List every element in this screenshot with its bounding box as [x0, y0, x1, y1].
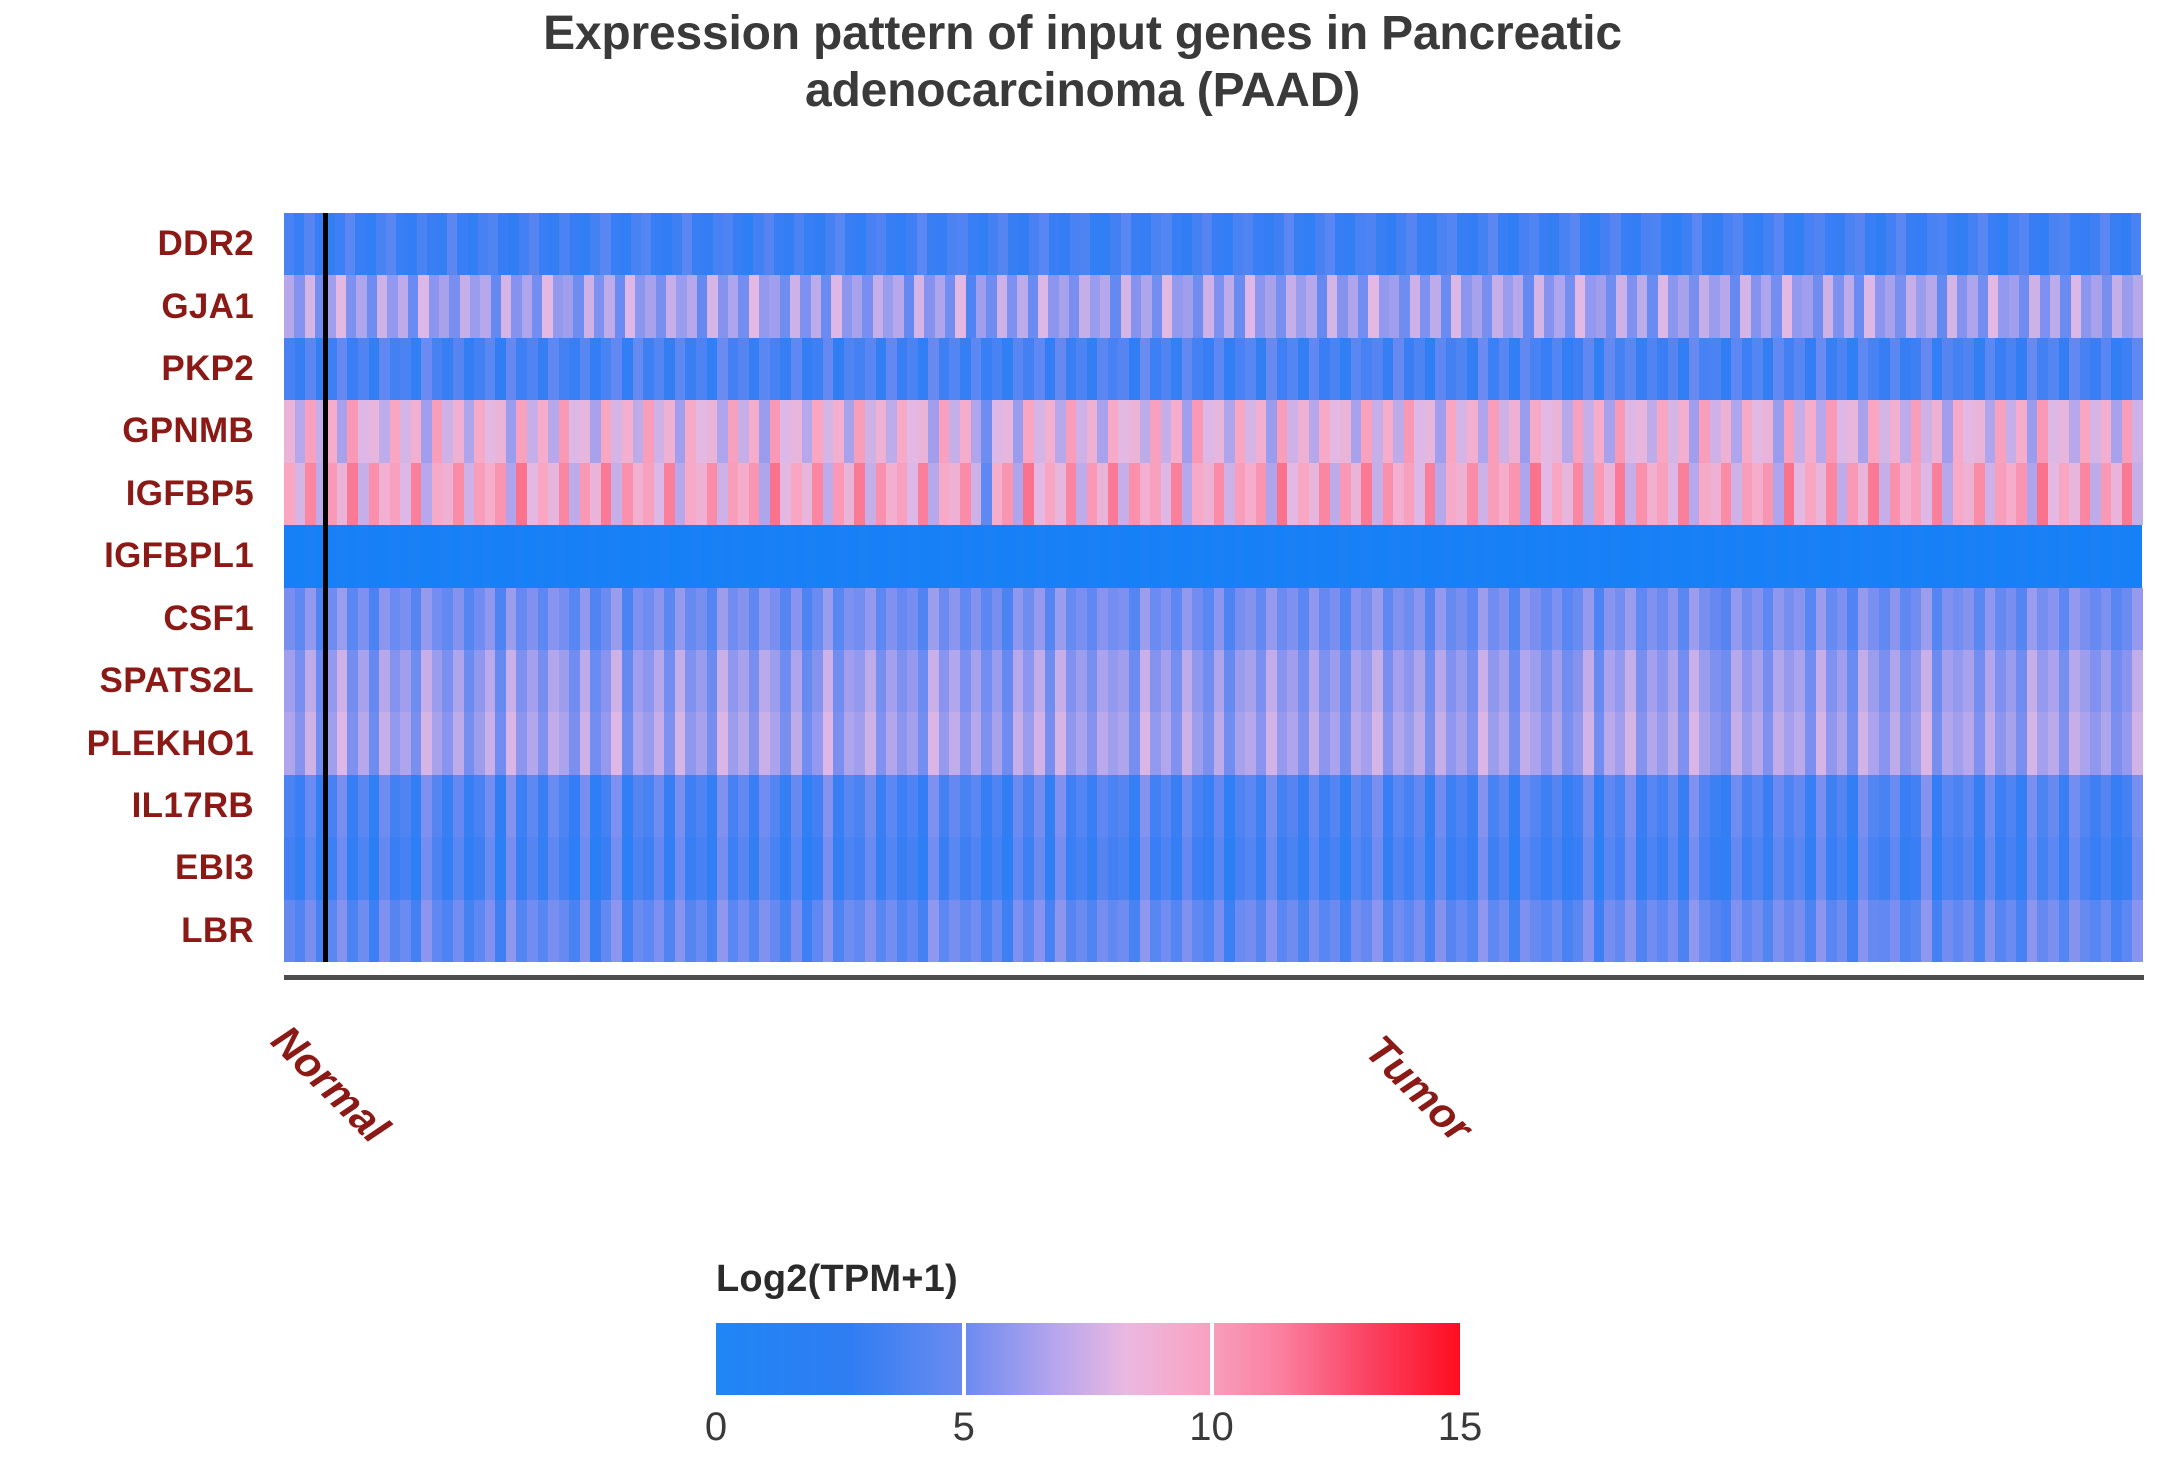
heatmap-cell[interactable] [1013, 650, 1024, 712]
heatmap-cell[interactable] [2111, 525, 2121, 587]
heatmap-cell[interactable] [960, 650, 971, 712]
heatmap-cell[interactable] [284, 588, 295, 650]
heatmap-cell[interactable] [284, 525, 294, 587]
heatmap-cell[interactable] [1805, 775, 1816, 837]
heatmap-cell[interactable] [1858, 837, 1869, 899]
heatmap-cell[interactable] [1499, 650, 1510, 712]
heatmap-cell[interactable] [1150, 400, 1161, 462]
heatmap-cell[interactable] [1549, 213, 1559, 275]
heatmap-cell[interactable] [791, 775, 802, 837]
heatmap-cell[interactable] [1383, 837, 1394, 899]
heatmap-cell[interactable] [812, 900, 823, 962]
heatmap-cell[interactable] [508, 213, 518, 275]
heatmap-cell[interactable] [1516, 525, 1526, 587]
heatmap-cell[interactable] [1404, 775, 1415, 837]
heatmap-cell[interactable] [728, 837, 739, 899]
heatmap-cell[interactable] [733, 525, 743, 587]
heatmap-cell[interactable] [759, 837, 770, 899]
heatmap-cell[interactable] [569, 712, 580, 774]
heatmap-cell[interactable] [759, 900, 770, 962]
heatmap-cell[interactable] [1055, 775, 1066, 837]
heatmap-cell[interactable] [611, 588, 622, 650]
heatmap-cell[interactable] [1689, 837, 1700, 899]
heatmap-cell[interactable] [1891, 525, 1901, 587]
heatmap-cell[interactable] [580, 463, 591, 525]
heatmap-cell[interactable] [1182, 712, 1193, 774]
heatmap-cell[interactable] [939, 338, 950, 400]
heatmap-cell[interactable] [485, 400, 496, 462]
heatmap-cell[interactable] [631, 213, 641, 275]
heatmap-cell[interactable] [1256, 650, 1267, 712]
heatmap-cell[interactable] [960, 775, 971, 837]
heatmap-cell[interactable] [918, 650, 929, 712]
heatmap-cell[interactable] [823, 900, 834, 962]
heatmap-cell[interactable] [1641, 525, 1651, 587]
heatmap-cell[interactable] [1562, 338, 1573, 400]
heatmap-cell[interactable] [1140, 588, 1151, 650]
heatmap-cell[interactable] [1974, 338, 1985, 400]
heatmap-cell[interactable] [390, 775, 401, 837]
heatmap-cell[interactable] [1847, 463, 1858, 525]
heatmap-cell[interactable] [981, 338, 992, 400]
heatmap-cell[interactable] [1307, 525, 1317, 587]
heatmap-cell[interactable] [1340, 400, 1351, 462]
heatmap-cell[interactable] [918, 900, 929, 962]
heatmap-cell[interactable] [1077, 525, 1087, 587]
heatmap-cell[interactable] [1277, 588, 1288, 650]
heatmap-cell[interactable] [337, 588, 348, 650]
heatmap-cell[interactable] [1192, 837, 1203, 899]
heatmap-cell[interactable] [876, 400, 887, 462]
heatmap-cell[interactable] [1520, 650, 1531, 712]
heatmap-cell[interactable] [347, 775, 358, 837]
heatmap-cell[interactable] [506, 588, 517, 650]
heatmap-cell[interactable] [1678, 275, 1688, 337]
heatmap-cell[interactable] [1604, 463, 1615, 525]
heatmap-cell[interactable] [1161, 338, 1172, 400]
heatmap-cell[interactable] [654, 775, 665, 837]
heatmap-cell[interactable] [2111, 900, 2122, 962]
heatmap-cell[interactable] [580, 775, 591, 837]
heatmap-cell[interactable] [2037, 712, 2048, 774]
heatmap-cell[interactable] [1839, 525, 1849, 587]
heatmap-cell[interactable] [2016, 588, 2027, 650]
heatmap-cell[interactable] [1937, 275, 1947, 337]
heatmap-cell[interactable] [876, 213, 886, 275]
heatmap-cell[interactable] [696, 712, 707, 774]
heatmap-cell[interactable] [1721, 837, 1732, 899]
heatmap-cell[interactable] [516, 650, 527, 712]
heatmap-cell[interactable] [611, 400, 622, 462]
heatmap-cell[interactable] [1906, 213, 1916, 275]
heatmap-cell[interactable] [491, 275, 501, 337]
heatmap-cell[interactable] [897, 712, 908, 774]
heatmap-cell[interactable] [794, 213, 804, 275]
heatmap-cell[interactable] [1927, 213, 1937, 275]
heatmap-cell[interactable] [601, 775, 612, 837]
heatmap-cell[interactable] [580, 712, 591, 774]
heatmap-cell[interactable] [1015, 525, 1025, 587]
heatmap-cell[interactable] [1544, 275, 1554, 337]
heatmap-cell[interactable] [802, 338, 813, 400]
heatmap-cell[interactable] [1792, 275, 1802, 337]
heatmap-cell[interactable] [833, 400, 844, 462]
heatmap-cell[interactable] [1921, 338, 1932, 400]
heatmap-cell[interactable] [1287, 712, 1298, 774]
heatmap-cell[interactable] [453, 837, 464, 899]
heatmap-cell[interactable] [1340, 338, 1351, 400]
heatmap-cell[interactable] [1604, 650, 1615, 712]
heatmap-cell[interactable] [1223, 213, 1233, 275]
heatmap-cell[interactable] [862, 275, 872, 337]
heatmap-cell[interactable] [928, 775, 939, 837]
heatmap-cell[interactable] [622, 400, 633, 462]
heatmap-cell[interactable] [2069, 712, 2080, 774]
heatmap-cell[interactable] [1636, 588, 1647, 650]
heatmap-cell[interactable] [1661, 213, 1671, 275]
heatmap-cell[interactable] [1740, 275, 1750, 337]
heatmap-cell[interactable] [1890, 463, 1901, 525]
heatmap-cell[interactable] [559, 650, 570, 712]
heatmap-cell[interactable] [1890, 900, 1901, 962]
heatmap-cell[interactable] [1150, 837, 1161, 899]
heatmap-cell[interactable] [1678, 400, 1689, 462]
heatmap-cell[interactable] [1985, 712, 1996, 774]
heatmap-cell[interactable] [1637, 275, 1647, 337]
heatmap-cell[interactable] [1171, 837, 1182, 899]
heatmap-cell[interactable] [1235, 400, 1246, 462]
heatmap-cell[interactable] [1478, 775, 1489, 837]
heatmap-cell[interactable] [2069, 525, 2079, 587]
heatmap-cell[interactable] [1615, 338, 1626, 400]
heatmap-cell[interactable] [1530, 650, 1541, 712]
heatmap-cell[interactable] [1562, 400, 1573, 462]
heatmap-cell[interactable] [1351, 588, 1362, 650]
heatmap-cell[interactable] [992, 463, 1003, 525]
heatmap-cell[interactable] [1714, 525, 1724, 587]
heatmap-cell[interactable] [1699, 775, 1710, 837]
heatmap-cell[interactable] [1463, 525, 1473, 587]
heatmap-cell[interactable] [2132, 900, 2143, 962]
heatmap-cell[interactable] [1683, 525, 1693, 587]
heatmap-cell[interactable] [1826, 463, 1837, 525]
heatmap-cell[interactable] [1425, 588, 1436, 650]
heatmap-cell[interactable] [654, 900, 665, 962]
heatmap-cell[interactable] [1008, 213, 1018, 275]
heatmap-cell[interactable] [2121, 525, 2131, 587]
heatmap-cell[interactable] [696, 650, 707, 712]
heatmap-cell[interactable] [1171, 463, 1182, 525]
heatmap-cell[interactable] [1264, 213, 1274, 275]
heatmap-cell[interactable] [2111, 463, 2122, 525]
heatmap-cell[interactable] [1066, 400, 1077, 462]
heatmap-cell[interactable] [759, 463, 770, 525]
heatmap-cell[interactable] [1383, 463, 1394, 525]
heatmap-cell[interactable] [1594, 900, 1605, 962]
heatmap-cell[interactable] [749, 400, 760, 462]
heatmap-cell[interactable] [1985, 338, 1996, 400]
heatmap-cell[interactable] [1432, 525, 1442, 587]
heatmap-cell[interactable] [1963, 712, 1974, 774]
heatmap-cell[interactable] [1150, 525, 1160, 587]
heatmap-cell[interactable] [1150, 338, 1161, 400]
heatmap-cell[interactable] [1118, 775, 1129, 837]
heatmap-cell[interactable] [1319, 650, 1330, 712]
heatmap-cell[interactable] [2110, 213, 2120, 275]
heatmap-cell[interactable] [949, 775, 960, 837]
heatmap-cell[interactable] [1097, 837, 1108, 899]
heatmap-cell[interactable] [1911, 400, 1922, 462]
heatmap-cell[interactable] [1235, 463, 1246, 525]
heatmap-cell[interactable] [1141, 213, 1151, 275]
heatmap-cell[interactable] [1414, 712, 1425, 774]
heatmap-cell[interactable] [1076, 712, 1087, 774]
heatmap-cell[interactable] [1678, 588, 1689, 650]
heatmap-cell[interactable] [1404, 588, 1415, 650]
heatmap-cell[interactable] [336, 525, 346, 587]
heatmap-cell[interactable] [2027, 650, 2038, 712]
heatmap-cell[interactable] [1916, 275, 1926, 337]
heatmap-cell[interactable] [460, 275, 470, 337]
heatmap-cell[interactable] [827, 525, 837, 587]
heatmap-cell[interactable] [1699, 837, 1710, 899]
heatmap-cell[interactable] [635, 275, 645, 337]
heatmap-cell[interactable] [1625, 900, 1636, 962]
heatmap-cell[interactable] [2037, 837, 2048, 899]
heatmap-cell[interactable] [1689, 400, 1700, 462]
heatmap-cell[interactable] [478, 213, 488, 275]
heatmap-cell[interactable] [664, 775, 675, 837]
heatmap-cell[interactable] [1668, 712, 1679, 774]
heatmap-cell[interactable] [580, 213, 590, 275]
heatmap-cell[interactable] [973, 525, 983, 587]
heatmap-cell[interactable] [1368, 275, 1378, 337]
heatmap-cell[interactable] [1742, 400, 1753, 462]
heatmap-cell[interactable] [408, 275, 418, 337]
heatmap-cell[interactable] [696, 400, 707, 462]
heatmap-cell[interactable] [1393, 837, 1404, 899]
heatmap-cell[interactable] [347, 837, 358, 899]
heatmap-cell[interactable] [1045, 400, 1056, 462]
heatmap-cell[interactable] [1947, 275, 1957, 337]
heatmap-cell[interactable] [1192, 900, 1203, 962]
heatmap-cell[interactable] [1467, 650, 1478, 712]
heatmap-cell[interactable] [400, 775, 411, 837]
heatmap-cell[interactable] [1023, 400, 1034, 462]
heatmap-cell[interactable] [1244, 525, 1254, 587]
heatmap-cell[interactable] [474, 900, 485, 962]
heatmap-cell[interactable] [1752, 650, 1763, 712]
heatmap-cell[interactable] [376, 213, 386, 275]
heatmap-cell[interactable] [1794, 900, 1805, 962]
heatmap-cell[interactable] [337, 837, 348, 899]
heatmap-cell[interactable] [1193, 275, 1203, 337]
heatmap-cell[interactable] [1699, 275, 1709, 337]
heatmap-cell[interactable] [886, 650, 897, 712]
heatmap-cell[interactable] [1641, 213, 1651, 275]
heatmap-cell[interactable] [1902, 525, 1912, 587]
heatmap-cell[interactable] [960, 712, 971, 774]
heatmap-cell[interactable] [1472, 275, 1482, 337]
heatmap-cell[interactable] [622, 837, 633, 899]
heatmap-cell[interactable] [1256, 463, 1267, 525]
heatmap-cell[interactable] [664, 338, 675, 400]
heatmap-cell[interactable] [1108, 712, 1119, 774]
heatmap-cell[interactable] [2090, 338, 2101, 400]
heatmap-cell[interactable] [645, 275, 655, 337]
heatmap-cell[interactable] [1573, 775, 1584, 837]
heatmap-cell[interactable] [524, 525, 534, 587]
heatmap-cell[interactable] [917, 213, 927, 275]
heatmap-cell[interactable] [1330, 650, 1341, 712]
heatmap-cell[interactable] [992, 650, 1003, 712]
heatmap-cell[interactable] [1689, 275, 1699, 337]
heatmap-cell[interactable] [1245, 712, 1256, 774]
heatmap-cell[interactable] [1235, 338, 1246, 400]
heatmap-cell[interactable] [549, 213, 559, 275]
heatmap-cell[interactable] [356, 275, 366, 337]
heatmap-cell[interactable] [1330, 338, 1341, 400]
heatmap-cell[interactable] [1461, 275, 1471, 337]
heatmap-cell[interactable] [1214, 463, 1225, 525]
heatmap-cell[interactable] [1802, 275, 1812, 337]
heatmap-cell[interactable] [1876, 213, 1886, 275]
heatmap-cell[interactable] [411, 463, 422, 525]
heatmap-cell[interactable] [1109, 525, 1119, 587]
heatmap-cell[interactable] [1330, 588, 1341, 650]
heatmap-cell[interactable] [759, 775, 770, 837]
heatmap-cell[interactable] [928, 712, 939, 774]
heatmap-cell[interactable] [1203, 837, 1214, 899]
heatmap-cell[interactable] [1161, 712, 1172, 774]
heatmap-cell[interactable] [464, 463, 475, 525]
heatmap-cell[interactable] [1118, 900, 1129, 962]
heatmap-cell[interactable] [1023, 712, 1034, 774]
heatmap-cell[interactable] [854, 588, 865, 650]
heatmap-cell[interactable] [2111, 338, 2122, 400]
heatmap-cell[interactable] [1108, 463, 1119, 525]
heatmap-cell[interactable] [1255, 525, 1265, 587]
heatmap-cell[interactable] [1330, 900, 1341, 962]
heatmap-cell[interactable] [1212, 213, 1222, 275]
heatmap-cell[interactable] [992, 775, 1003, 837]
heatmap-cell[interactable] [1590, 213, 1600, 275]
heatmap-cell[interactable] [305, 400, 316, 462]
heatmap-cell[interactable] [305, 275, 315, 337]
heatmap-cell[interactable] [1372, 650, 1383, 712]
heatmap-cell[interactable] [1604, 588, 1615, 650]
heatmap-cell[interactable] [2090, 900, 2101, 962]
heatmap-cell[interactable] [1435, 463, 1446, 525]
heatmap-cell[interactable] [1192, 712, 1203, 774]
heatmap-cell[interactable] [1573, 463, 1584, 525]
heatmap-cell[interactable] [590, 338, 601, 400]
heatmap-cell[interactable] [1777, 525, 1787, 587]
heatmap-cell[interactable] [1372, 837, 1383, 899]
heatmap-cell[interactable] [1245, 275, 1255, 337]
heatmap-cell[interactable] [1192, 463, 1203, 525]
heatmap-cell[interactable] [390, 837, 401, 899]
heatmap-cell[interactable] [388, 525, 398, 587]
heatmap-cell[interactable] [1530, 900, 1541, 962]
heatmap-cell[interactable] [2122, 400, 2133, 462]
heatmap-cell[interactable] [1056, 525, 1066, 587]
heatmap-cell[interactable] [1953, 775, 1964, 837]
heatmap-cell[interactable] [886, 775, 897, 837]
heatmap-cell[interactable] [1446, 588, 1457, 650]
heatmap-cell[interactable] [2102, 275, 2112, 337]
heatmap-cell[interactable] [535, 525, 545, 587]
heatmap-cell[interactable] [1906, 275, 1916, 337]
heatmap-cell[interactable] [675, 400, 686, 462]
heatmap-cell[interactable] [1858, 775, 1869, 837]
heatmap-cell[interactable] [764, 525, 774, 587]
heatmap-cell[interactable] [981, 650, 992, 712]
heatmap-cell[interactable] [949, 837, 960, 899]
heatmap-cell[interactable] [2121, 213, 2131, 275]
heatmap-cell[interactable] [1921, 712, 1932, 774]
heatmap-cell[interactable] [1509, 588, 1520, 650]
heatmap-cell[interactable] [2080, 400, 2091, 462]
heatmap-cell[interactable] [569, 588, 580, 650]
heatmap-cell[interactable] [576, 525, 586, 587]
heatmap-cell[interactable] [1678, 338, 1689, 400]
heatmap-cell[interactable] [918, 463, 929, 525]
heatmap-cell[interactable] [2069, 900, 2080, 962]
heatmap-cell[interactable] [2101, 400, 2112, 462]
heatmap-cell[interactable] [1721, 775, 1732, 837]
heatmap-cell[interactable] [1610, 213, 1620, 275]
heatmap-cell[interactable] [1076, 775, 1087, 837]
heatmap-cell[interactable] [2069, 775, 2080, 837]
heatmap-cell[interactable] [823, 837, 834, 899]
heatmap-cell[interactable] [1414, 338, 1425, 400]
heatmap-cell[interactable] [869, 525, 879, 587]
heatmap-cell[interactable] [580, 837, 591, 899]
heatmap-cell[interactable] [654, 837, 665, 899]
heatmap-cell[interactable] [1498, 213, 1508, 275]
heatmap-cell[interactable] [569, 775, 580, 837]
heatmap-cell[interactable] [1446, 900, 1457, 962]
heatmap-cell[interactable] [1689, 463, 1700, 525]
heatmap-cell[interactable] [1854, 275, 1864, 337]
heatmap-cell[interactable] [421, 588, 432, 650]
heatmap-cell[interactable] [1886, 213, 1896, 275]
heatmap-cell[interactable] [1287, 400, 1298, 462]
heatmap-cell[interactable] [770, 400, 781, 462]
heatmap-cell[interactable] [643, 650, 654, 712]
heatmap-cell[interactable] [337, 650, 348, 712]
heatmap-cell[interactable] [1860, 525, 1870, 587]
heatmap-cell[interactable] [1182, 900, 1193, 962]
heatmap-cell[interactable] [1002, 400, 1013, 462]
heatmap-cell[interactable] [643, 775, 654, 837]
heatmap-cell[interactable] [1847, 650, 1858, 712]
heatmap-cell[interactable] [1499, 588, 1510, 650]
heatmap-cell[interactable] [1710, 837, 1721, 899]
heatmap-cell[interactable] [1087, 463, 1098, 525]
heatmap-row-igfbp5[interactable] [284, 463, 2142, 525]
heatmap-cell[interactable] [1523, 275, 1533, 337]
heatmap-cell[interactable] [485, 837, 496, 899]
heatmap-cell[interactable] [685, 837, 696, 899]
heatmap-cell[interactable] [1266, 650, 1277, 712]
heatmap-cell[interactable] [770, 900, 781, 962]
heatmap-cell[interactable] [854, 650, 865, 712]
heatmap-cell[interactable] [1773, 837, 1784, 899]
heatmap-cell[interactable] [1678, 837, 1689, 899]
heatmap-cell[interactable] [1932, 463, 1943, 525]
